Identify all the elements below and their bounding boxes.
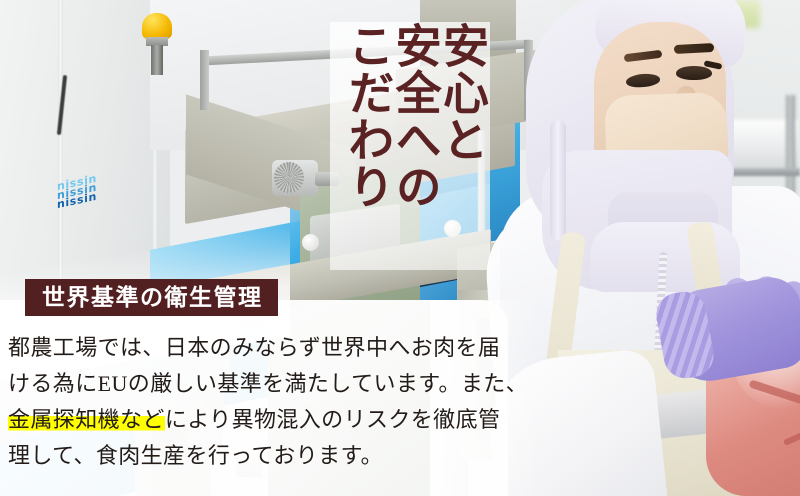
machine-motor-fan	[274, 162, 304, 193]
worker-hood-fold	[550, 120, 566, 240]
machine-knob	[302, 234, 319, 251]
nissin-logo: nissin nissin nissin	[57, 174, 97, 209]
body-line-2: ける為にEUの厳しい基準を満たしています。また、	[8, 366, 508, 402]
worker-eye-right	[676, 66, 712, 80]
section-heading-text: 世界基準の衛生管理	[42, 286, 263, 309]
body-line-3: 金属探知機などにより異物混入のリスクを徹底管	[8, 402, 508, 438]
vertical-headline: 安心と 安全への こだわり	[336, 22, 486, 272]
machine-frame-leg-left	[200, 50, 209, 110]
body-copy: 都農工場では、日本のみならず世界中へお肉を届 ける為にEUの厳しい基準を満たして…	[8, 330, 508, 474]
highlighted-term: 金属探知機など	[8, 407, 165, 432]
warning-beacon-icon	[142, 13, 172, 39]
body-line-4: 理して、食肉生産を行っております。	[8, 438, 508, 474]
promo-banner: nissin nissin nissin	[0, 0, 800, 496]
factory-worker	[498, 0, 800, 496]
body-line-3-rest: により異物混入のリスクを徹底管	[165, 407, 501, 432]
body-line-1: 都農工場では、日本のみならず世界中へお肉を届	[8, 330, 508, 366]
warning-beacon-post	[151, 45, 163, 75]
section-heading-bar: 世界基準の衛生管理	[25, 279, 278, 316]
